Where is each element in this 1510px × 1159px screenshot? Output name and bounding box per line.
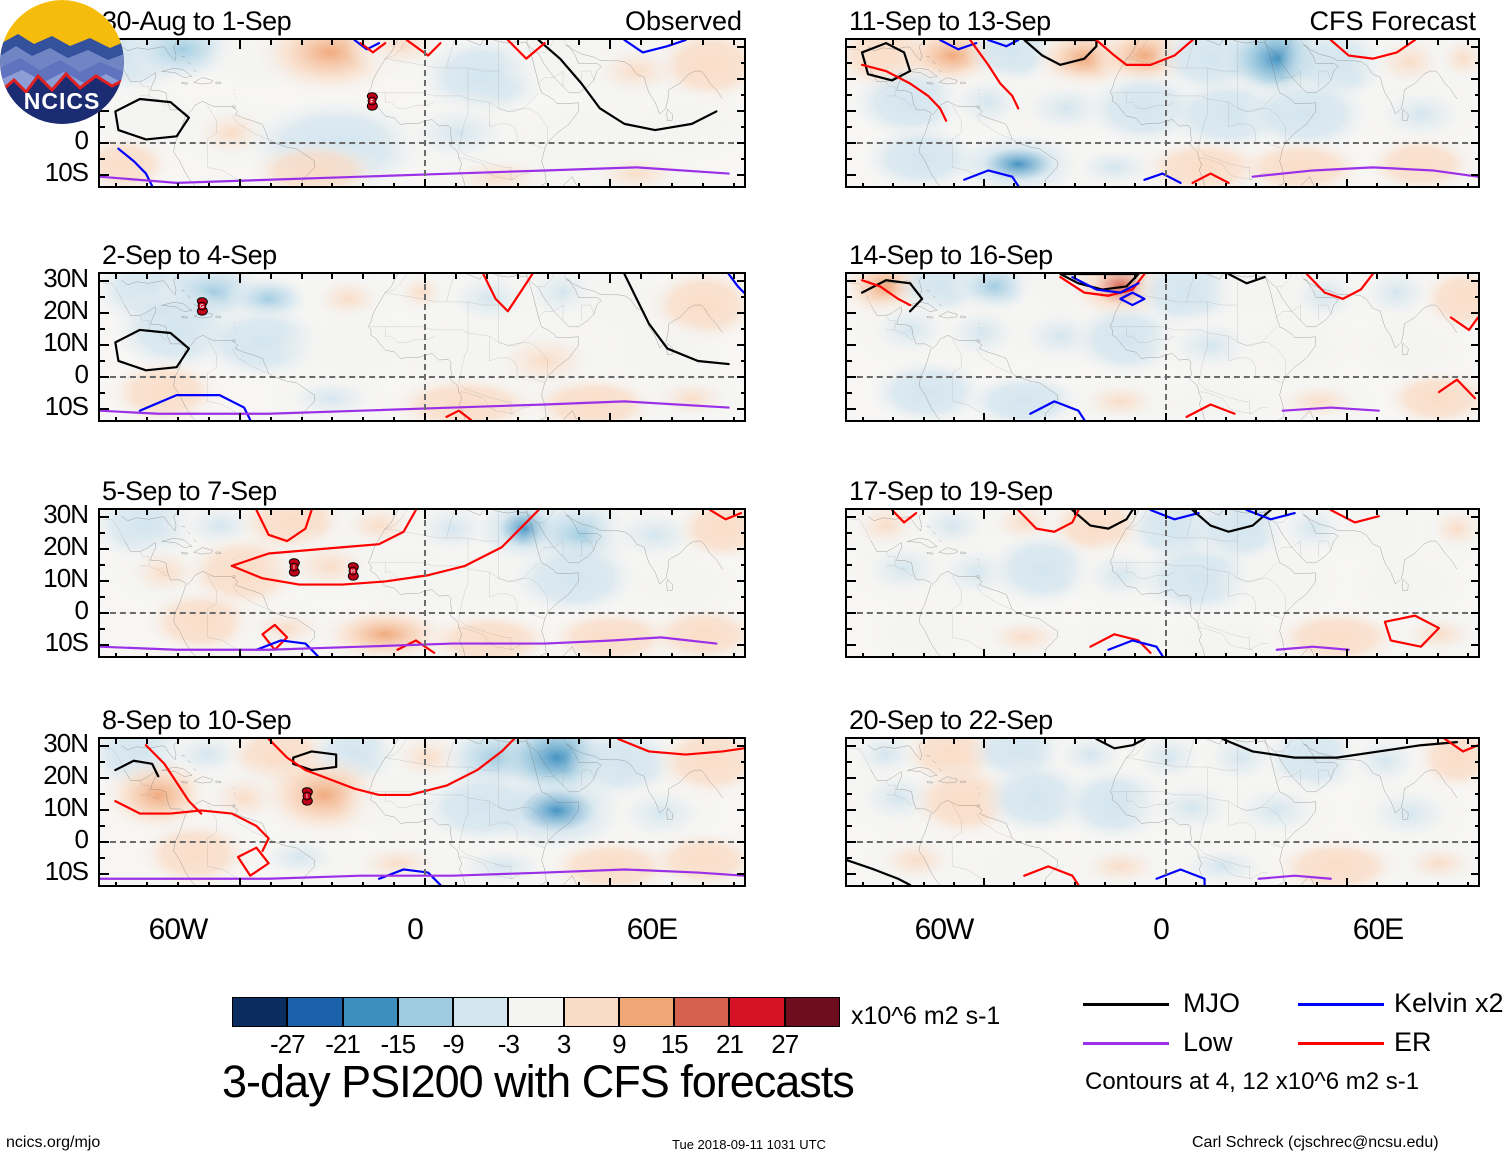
y-tick	[1471, 841, 1480, 843]
x-tick	[208, 40, 210, 45]
x-tick	[146, 183, 148, 188]
x-tick	[1437, 40, 1439, 45]
x-tick	[1165, 179, 1167, 188]
x-tick	[1225, 653, 1227, 658]
legend-label-mjo: MJO	[1183, 988, 1240, 1019]
x-tick	[115, 183, 117, 188]
x-tick	[1255, 882, 1257, 887]
y-tick	[1471, 873, 1480, 875]
x-tick	[331, 510, 333, 515]
y-tick	[741, 532, 746, 534]
x-tick	[1013, 417, 1015, 422]
x-tick	[640, 510, 642, 515]
yaxis-label: 0	[0, 824, 88, 855]
x-tick	[1346, 40, 1348, 49]
x-tick	[547, 274, 549, 279]
y-tick	[1475, 392, 1480, 394]
x-tick	[393, 739, 395, 744]
column-label-observed: Observed	[625, 6, 742, 37]
y-tick	[741, 328, 746, 330]
x-tick	[547, 417, 549, 422]
x-tick	[733, 510, 735, 515]
x-tick	[1165, 413, 1167, 422]
y-tick	[1471, 280, 1480, 282]
column-label-cfs-forecast: CFS Forecast	[1309, 6, 1476, 37]
y-tick	[847, 78, 856, 80]
y-tick	[847, 532, 852, 534]
x-tick	[270, 40, 272, 45]
yaxis-label: 0	[0, 595, 88, 626]
x-tick	[640, 274, 642, 279]
x-tick	[1376, 417, 1378, 422]
x-tick	[1255, 739, 1257, 744]
y-tick	[1471, 46, 1480, 48]
x-tick	[702, 739, 704, 744]
x-tick	[1044, 40, 1046, 45]
y-tick	[847, 564, 852, 566]
xaxis-label-right-60e: 60E	[1353, 913, 1403, 947]
x-tick	[733, 183, 735, 188]
yaxis-label: 20N	[0, 295, 88, 326]
x-tick	[115, 653, 117, 658]
y-tick	[737, 644, 746, 646]
x-tick	[983, 274, 985, 283]
y-tick	[1475, 296, 1480, 298]
y-tick	[1475, 564, 1480, 566]
y-tick	[100, 628, 105, 630]
x-tick	[177, 183, 179, 188]
x-tick	[455, 510, 457, 515]
x-tick	[517, 274, 519, 279]
x-tick	[702, 183, 704, 188]
x-tick	[1195, 653, 1197, 658]
y-tick	[847, 548, 856, 550]
x-tick	[578, 40, 580, 45]
x-tick	[1074, 653, 1076, 658]
y-tick	[1471, 580, 1480, 582]
y-tick	[1475, 158, 1480, 160]
equator-line	[100, 142, 744, 144]
y-tick	[100, 644, 109, 646]
footer-left[interactable]: ncics.org/mjo	[6, 1134, 100, 1152]
x-tick	[1225, 510, 1227, 515]
x-tick	[640, 653, 642, 658]
yaxis-label: 0	[0, 125, 88, 156]
x-tick	[578, 882, 580, 887]
x-tick	[640, 739, 642, 744]
xaxis-label-right-0: 0	[1153, 913, 1169, 947]
y-tick	[737, 548, 746, 550]
x-tick	[1255, 653, 1257, 658]
y-tick	[100, 580, 109, 582]
y-tick	[1471, 142, 1480, 144]
x-tick	[702, 510, 704, 515]
x-tick	[1195, 274, 1197, 279]
x-tick	[1074, 40, 1076, 45]
y-tick	[847, 596, 852, 598]
x-tick	[146, 739, 148, 744]
x-tick	[1346, 413, 1348, 422]
x-tick	[1044, 739, 1046, 744]
x-tick	[1165, 649, 1167, 658]
x-tick	[1376, 882, 1378, 887]
x-tick	[1406, 510, 1408, 515]
y-tick	[1471, 745, 1480, 747]
x-tick	[983, 739, 985, 748]
x-tick	[270, 183, 272, 188]
x-tick	[578, 274, 580, 279]
x-tick	[424, 179, 426, 188]
x-tick	[208, 510, 210, 515]
x-tick	[517, 653, 519, 658]
x-tick	[862, 183, 864, 188]
x-tick	[1195, 183, 1197, 188]
x-tick	[702, 40, 704, 45]
x-tick	[547, 653, 549, 658]
x-tick	[331, 739, 333, 744]
y-tick	[847, 126, 852, 128]
colorbar-units-label: x10^6 m2 s-1	[851, 1002, 1000, 1031]
x-tick	[393, 882, 395, 887]
x-tick	[892, 183, 894, 188]
x-tick	[1316, 653, 1318, 658]
x-tick	[1406, 183, 1408, 188]
y-tick	[1471, 516, 1480, 518]
x-tick	[671, 510, 673, 515]
x-tick	[1013, 510, 1015, 515]
y-tick	[737, 745, 746, 747]
y-tick	[847, 873, 856, 875]
x-tick	[393, 417, 395, 422]
x-tick	[1406, 653, 1408, 658]
x-tick	[953, 510, 955, 515]
x-tick	[424, 649, 426, 658]
y-tick	[737, 809, 746, 811]
x-tick	[609, 179, 611, 188]
x-tick	[208, 183, 210, 188]
y-tick	[1475, 126, 1480, 128]
x-tick	[1074, 274, 1076, 279]
y-tick	[100, 344, 109, 346]
x-tick	[578, 653, 580, 658]
x-tick	[146, 653, 148, 658]
yaxis-label: 30N	[0, 728, 88, 759]
x-tick	[1406, 739, 1408, 744]
y-tick	[1471, 548, 1480, 550]
x-tick	[1195, 739, 1197, 744]
y-tick	[100, 857, 105, 859]
x-tick	[455, 417, 457, 422]
x-tick	[177, 510, 179, 515]
x-tick	[208, 417, 210, 422]
y-tick	[1475, 857, 1480, 859]
x-tick	[301, 739, 303, 744]
y-tick	[737, 312, 746, 314]
colorbar-segment-0	[232, 997, 287, 1027]
x-tick	[455, 40, 457, 45]
panel-title-3: 8-Sep to 10-Sep	[102, 705, 291, 736]
x-tick	[671, 653, 673, 658]
x-tick	[1044, 183, 1046, 188]
yaxis-label: 10N	[0, 792, 88, 823]
x-tick	[1104, 40, 1106, 45]
map-panel-6[interactable]	[845, 508, 1480, 658]
x-tick	[239, 878, 241, 887]
x-tick	[115, 882, 117, 887]
x-tick	[1285, 653, 1287, 658]
y-tick	[847, 174, 856, 176]
x-tick	[671, 882, 673, 887]
map-panel-4[interactable]	[845, 38, 1480, 188]
y-tick	[847, 516, 856, 518]
x-tick	[640, 417, 642, 422]
x-tick	[1467, 274, 1469, 279]
x-tick	[239, 739, 241, 748]
x-tick	[983, 649, 985, 658]
x-tick	[983, 510, 985, 519]
x-tick	[393, 40, 395, 45]
y-tick	[741, 564, 746, 566]
y-tick	[741, 392, 746, 394]
map-panel-7[interactable]	[845, 737, 1480, 887]
x-tick	[331, 183, 333, 188]
x-tick	[331, 882, 333, 887]
panel-title-5: 14-Sep to 16-Sep	[849, 240, 1053, 271]
prime-meridian-line	[424, 274, 426, 420]
x-tick	[1044, 882, 1046, 887]
y-tick	[737, 174, 746, 176]
map-panel-5[interactable]	[845, 272, 1480, 422]
y-tick	[847, 825, 852, 827]
x-tick	[671, 417, 673, 422]
x-tick	[953, 653, 955, 658]
x-tick	[424, 878, 426, 887]
x-tick	[733, 40, 735, 45]
x-tick	[208, 653, 210, 658]
x-tick	[1134, 510, 1136, 515]
x-tick	[1285, 183, 1287, 188]
x-tick	[362, 510, 364, 515]
x-tick	[301, 653, 303, 658]
x-tick	[892, 417, 894, 422]
x-tick	[115, 417, 117, 422]
storm-marker-H: H	[342, 559, 364, 583]
y-tick	[1471, 644, 1480, 646]
y-tick	[737, 777, 746, 779]
x-tick	[1467, 183, 1469, 188]
y-tick	[741, 62, 746, 64]
x-tick	[702, 417, 704, 422]
x-tick	[1165, 878, 1167, 887]
x-tick	[1346, 878, 1348, 887]
y-tick	[737, 78, 746, 80]
x-tick	[1437, 653, 1439, 658]
prime-meridian-line	[424, 510, 426, 656]
x-tick	[1044, 274, 1046, 279]
x-tick	[362, 183, 364, 188]
legend-line-er	[1298, 1042, 1384, 1045]
y-tick	[847, 644, 856, 646]
x-tick	[270, 882, 272, 887]
colorbar-segment-9	[729, 997, 784, 1027]
x-tick	[270, 510, 272, 515]
x-tick	[1013, 739, 1015, 744]
y-tick	[100, 745, 109, 747]
x-tick	[733, 739, 735, 744]
x-tick	[1134, 183, 1136, 188]
colorbar-segment-5	[508, 997, 563, 1027]
x-tick	[1104, 510, 1106, 515]
y-tick	[100, 408, 109, 410]
storm-marker-I: I	[283, 555, 305, 579]
colorbar-segment-2	[343, 997, 398, 1027]
y-tick	[847, 158, 852, 160]
x-tick	[1225, 183, 1227, 188]
panel-title-4: 11-Sep to 13-Sep	[849, 6, 1051, 37]
y-tick	[100, 312, 109, 314]
x-tick	[1406, 417, 1408, 422]
x-tick	[301, 40, 303, 45]
x-tick	[1346, 274, 1348, 283]
x-tick	[1074, 417, 1076, 422]
svg-text:F: F	[370, 99, 373, 105]
x-tick	[517, 739, 519, 744]
x-tick	[1225, 882, 1227, 887]
yaxis-label: 10N	[0, 327, 88, 358]
x-tick	[424, 274, 426, 283]
x-tick	[1225, 40, 1227, 45]
x-tick	[609, 274, 611, 283]
x-tick	[953, 739, 955, 744]
legend-label-kelvin: Kelvin x2	[1394, 988, 1504, 1019]
map-panel-0[interactable]: F	[98, 38, 746, 188]
y-tick	[737, 612, 746, 614]
panel-title-2: 5-Sep to 7-Sep	[102, 476, 277, 507]
x-tick	[862, 653, 864, 658]
yaxis-label: 30N	[0, 499, 88, 530]
x-tick	[455, 882, 457, 887]
x-tick	[1134, 40, 1136, 45]
x-tick	[239, 510, 241, 519]
x-tick	[486, 882, 488, 887]
x-tick	[702, 882, 704, 887]
y-tick	[100, 612, 109, 614]
x-tick	[640, 40, 642, 45]
x-tick	[1467, 510, 1469, 515]
x-tick	[609, 413, 611, 422]
colorbar	[232, 997, 840, 1027]
y-tick	[847, 857, 852, 859]
x-tick	[1225, 417, 1227, 422]
x-tick	[892, 882, 894, 887]
x-tick	[862, 40, 864, 45]
equator-line	[847, 142, 1478, 144]
x-tick	[301, 274, 303, 279]
x-tick	[208, 274, 210, 279]
x-tick	[486, 510, 488, 515]
y-tick	[847, 344, 856, 346]
x-tick	[362, 417, 364, 422]
x-tick	[424, 510, 426, 519]
y-tick	[737, 344, 746, 346]
x-tick	[1013, 882, 1015, 887]
y-tick	[847, 62, 852, 64]
x-tick	[1013, 40, 1015, 45]
x-tick	[393, 653, 395, 658]
map-panel-3[interactable]: I	[98, 737, 746, 887]
x-tick	[331, 417, 333, 422]
map-panel-1[interactable]: G	[98, 272, 746, 422]
y-tick	[847, 280, 856, 282]
x-tick	[486, 417, 488, 422]
xaxis-label-left-60w: 60W	[149, 913, 208, 947]
x-tick	[1285, 40, 1287, 45]
x-tick	[270, 274, 272, 279]
yaxis-label: 10S	[0, 856, 88, 887]
x-tick	[1255, 183, 1257, 188]
x-tick	[270, 653, 272, 658]
x-tick	[1165, 274, 1167, 283]
x-tick	[239, 413, 241, 422]
y-tick	[100, 793, 105, 795]
map-panel-2[interactable]: IH	[98, 508, 746, 658]
x-tick	[923, 417, 925, 422]
x-tick	[486, 739, 488, 744]
x-tick	[517, 417, 519, 422]
equator-line	[100, 841, 744, 843]
x-tick	[609, 739, 611, 748]
x-tick	[983, 179, 985, 188]
x-tick	[1467, 653, 1469, 658]
x-tick	[1165, 40, 1167, 49]
x-tick	[1467, 40, 1469, 45]
x-tick	[1074, 739, 1076, 744]
x-tick	[455, 274, 457, 279]
y-tick	[100, 564, 105, 566]
x-tick	[640, 882, 642, 887]
x-tick	[547, 739, 549, 744]
x-tick	[671, 274, 673, 279]
y-tick	[847, 142, 856, 144]
x-tick	[923, 739, 925, 744]
x-tick	[953, 183, 955, 188]
y-tick	[741, 126, 746, 128]
y-tick	[100, 777, 109, 779]
x-tick	[953, 274, 955, 279]
panel-title-1: 2-Sep to 4-Sep	[102, 240, 277, 271]
x-tick	[146, 510, 148, 515]
x-tick	[239, 179, 241, 188]
x-tick	[702, 653, 704, 658]
x-tick	[115, 274, 117, 279]
y-tick	[100, 532, 105, 534]
x-tick	[239, 274, 241, 283]
x-tick	[1316, 183, 1318, 188]
x-tick	[146, 417, 148, 422]
x-tick	[1316, 739, 1318, 744]
x-tick	[1467, 882, 1469, 887]
x-tick	[177, 653, 179, 658]
x-tick	[1044, 417, 1046, 422]
x-tick	[1376, 183, 1378, 188]
x-tick	[983, 413, 985, 422]
x-tick	[547, 183, 549, 188]
x-tick	[923, 510, 925, 515]
x-tick	[1134, 739, 1136, 744]
y-tick	[100, 841, 109, 843]
colorbar-segment-10	[785, 997, 840, 1027]
x-tick	[146, 40, 148, 45]
